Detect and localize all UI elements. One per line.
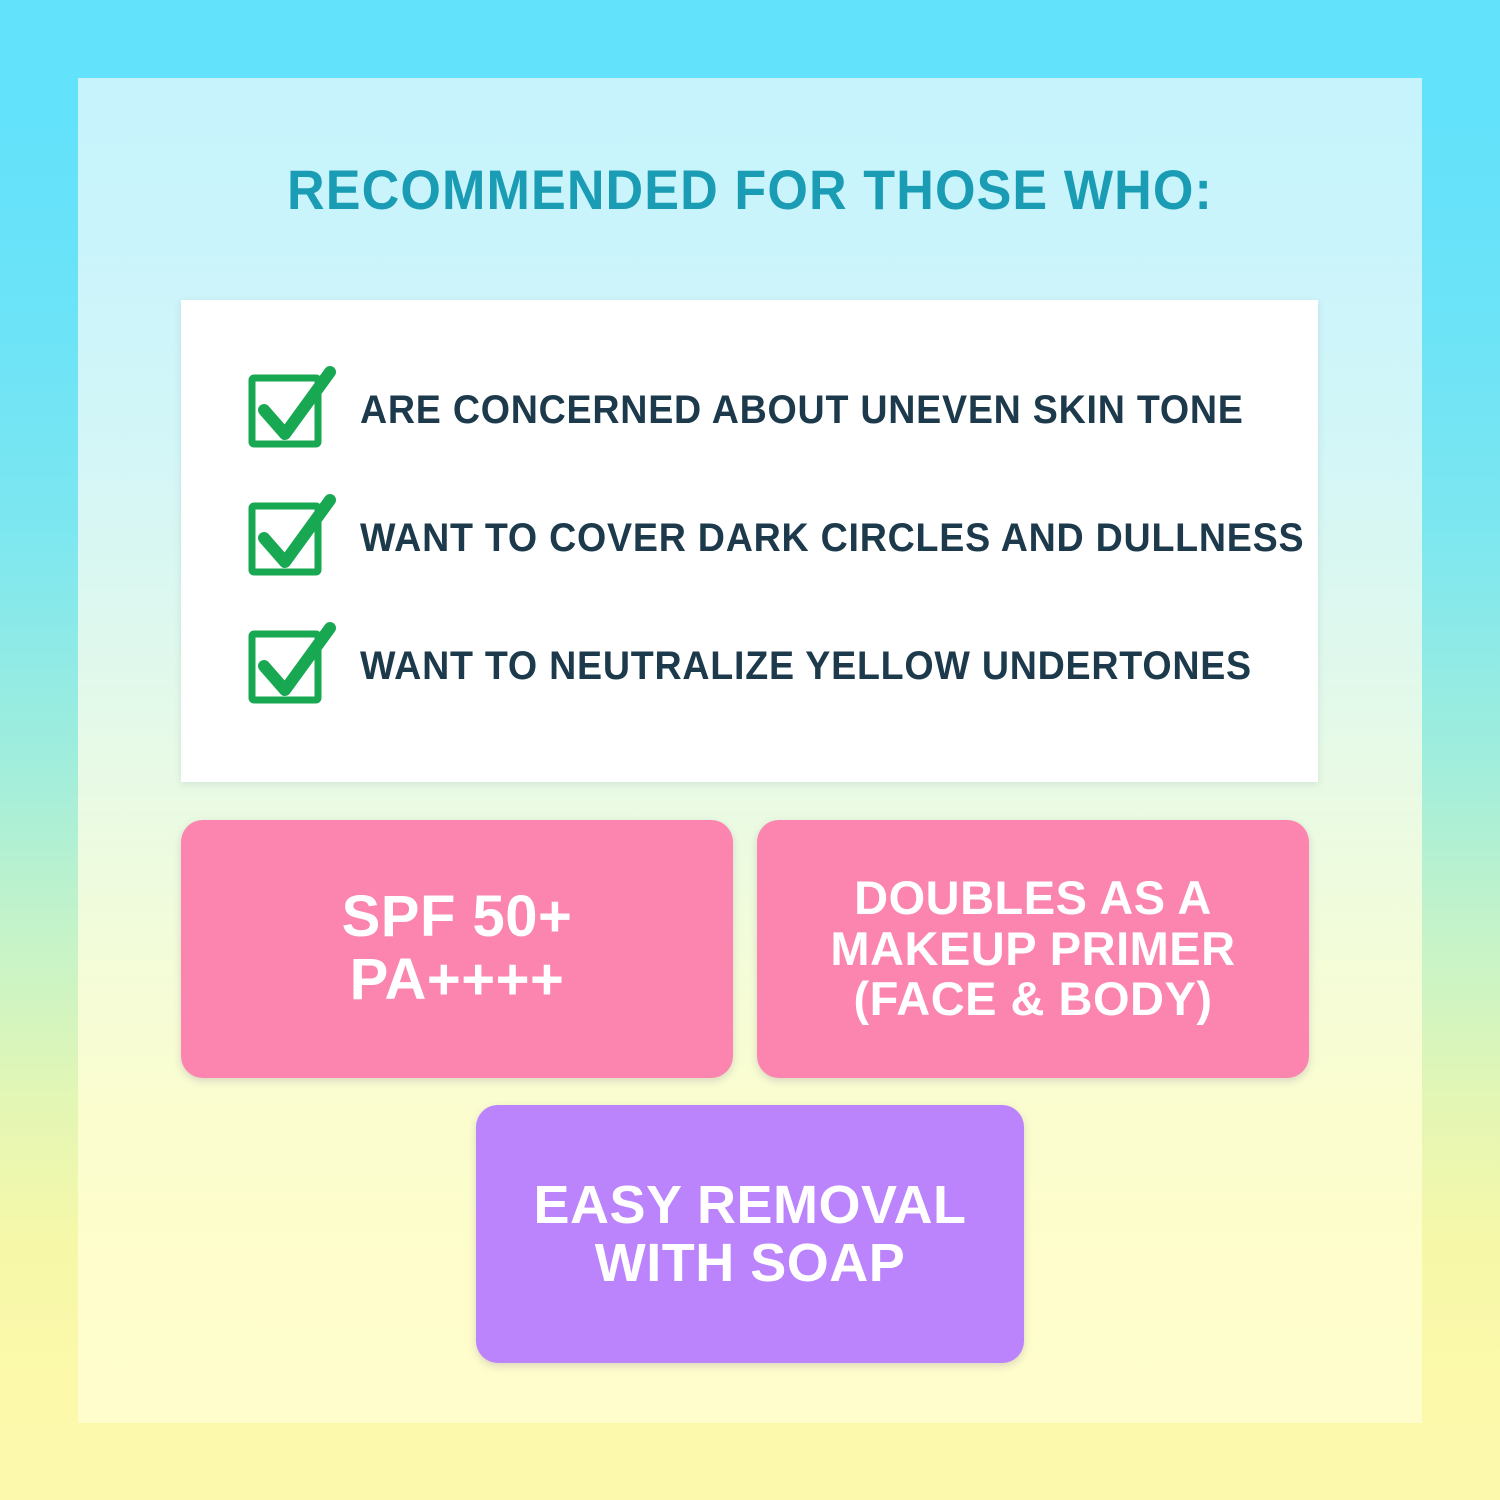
list-item-label: ARE CONCERNED ABOUT UNEVEN SKIN TONE	[360, 388, 1244, 433]
promo-poster: RECOMMENDED FOR THOSE WHO: ARE CONCERNED…	[0, 0, 1500, 1500]
checkbox-checked-icon	[246, 366, 334, 454]
feature-card-primer: DOUBLES AS A MAKEUP PRIMER (FACE & BODY)	[757, 820, 1309, 1078]
feature-card-spf: SPF 50+ PA++++	[181, 820, 733, 1078]
list-item: ARE CONCERNED ABOUT UNEVEN SKIN TONE	[181, 346, 1318, 474]
feature-card-primer-line-3: (FACE & BODY)	[830, 974, 1235, 1025]
feature-card-soap-text: EASY REMOVAL WITH SOAP	[519, 1176, 980, 1293]
feature-card-soap: EASY REMOVAL WITH SOAP	[476, 1105, 1024, 1363]
checkbox-checked-icon	[246, 494, 334, 582]
feature-card-spf-line-2: PA++++	[342, 949, 573, 1012]
feature-card-soap-line-2: WITH SOAP	[533, 1234, 966, 1292]
feature-card-spf-line-1: SPF 50+	[342, 886, 573, 949]
list-item-label: WANT TO NEUTRALIZE YELLOW UNDERTONES	[360, 644, 1252, 689]
feature-card-soap-line-1: EASY REMOVAL	[533, 1176, 966, 1234]
feature-card-primer-line-2: MAKEUP PRIMER	[830, 924, 1235, 975]
feature-card-primer-line-1: DOUBLES AS A	[830, 873, 1235, 924]
list-item: WANT TO NEUTRALIZE YELLOW UNDERTONES	[181, 602, 1318, 730]
checklist-card: ARE CONCERNED ABOUT UNEVEN SKIN TONE WAN…	[181, 300, 1318, 782]
checklist: ARE CONCERNED ABOUT UNEVEN SKIN TONE WAN…	[181, 346, 1318, 730]
feature-cards-row: SPF 50+ PA++++ DOUBLES AS A MAKEUP PRIME…	[181, 820, 1318, 1078]
list-item: WANT TO COVER DARK CIRCLES AND DULLNESS	[181, 474, 1318, 602]
page-title: RECOMMENDED FOR THOSE WHO:	[53, 162, 1448, 218]
feature-card-spf-text: SPF 50+ PA++++	[328, 886, 587, 1011]
list-item-label: WANT TO COVER DARK CIRCLES AND DULLNESS	[360, 516, 1304, 561]
feature-card-primer-text: DOUBLES AS A MAKEUP PRIMER (FACE & BODY)	[816, 873, 1249, 1025]
checkbox-checked-icon	[246, 622, 334, 710]
